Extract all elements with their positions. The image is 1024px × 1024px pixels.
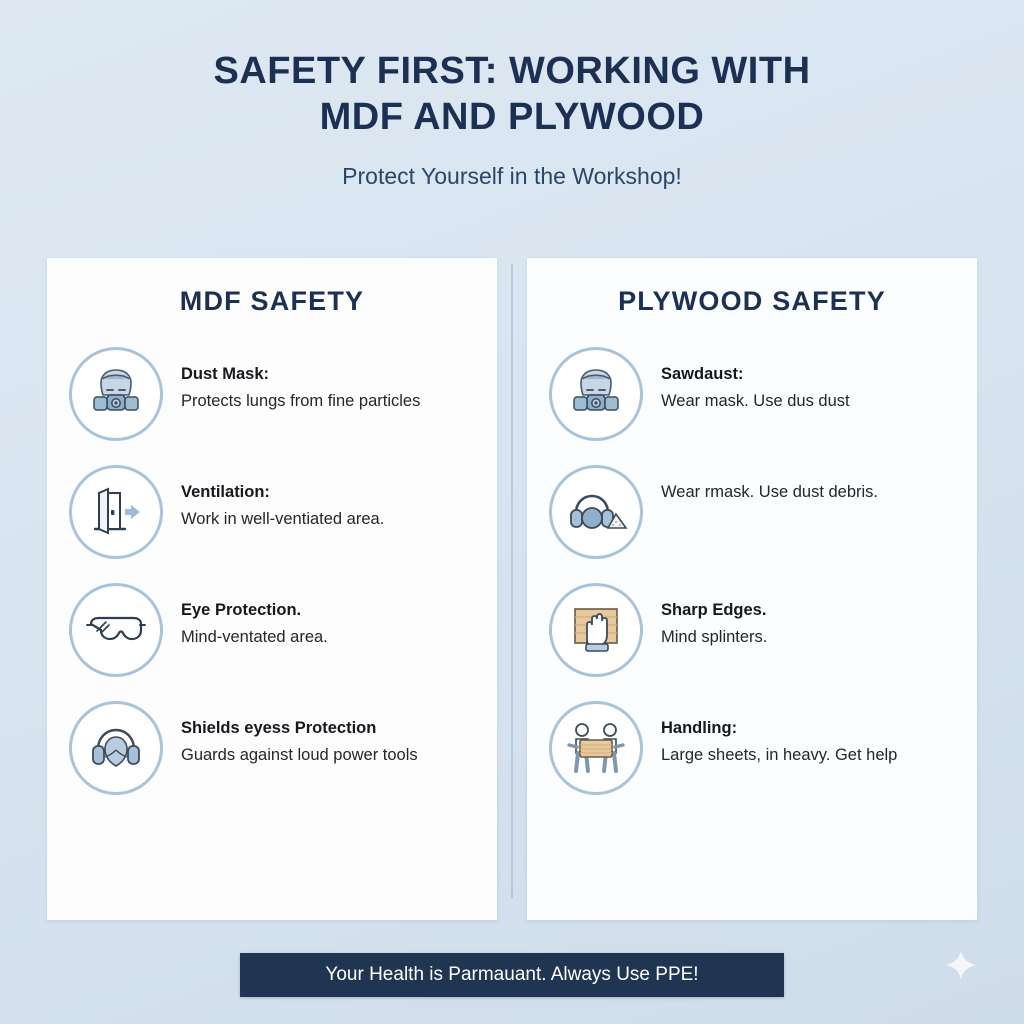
list-item-text: Dust Mask: Protects lungs from fine part… bbox=[163, 347, 420, 414]
list-item-desc: Mind-ventated area. bbox=[181, 624, 328, 651]
respirator-mask-icon bbox=[549, 347, 643, 441]
page-subtitle: Protect Yourself in the Workshop! bbox=[0, 163, 1024, 190]
list-item-title: Sharp Edges. bbox=[661, 597, 767, 624]
list-item-desc: Guards against loud power tools bbox=[181, 742, 418, 769]
mdf-safety-card: MDF SAFETY Dust Mask: Protects lungs fro… bbox=[47, 258, 497, 920]
safety-goggles-icon bbox=[69, 583, 163, 677]
list-item: Dust Mask: Protects lungs from fine part… bbox=[69, 347, 475, 443]
list-item: Sharp Edges. Mind splinters. bbox=[549, 583, 955, 679]
respirator-mask-icon bbox=[69, 347, 163, 441]
ear-protection-head-icon bbox=[69, 701, 163, 795]
list-item-text: Ventilation: Work in well-ventiated area… bbox=[163, 465, 384, 532]
list-item-title: Dust Mask: bbox=[181, 361, 420, 388]
list-item: Handling: Large sheets, in heavy. Get he… bbox=[549, 701, 955, 797]
list-item-text: Sawdaust: Wear mask. Use dus dust bbox=[643, 347, 850, 414]
list-item: Ventilation: Work in well-ventiated area… bbox=[69, 465, 475, 561]
list-item-title: Handling: bbox=[661, 715, 897, 742]
list-item-desc: Wear rmask. Use dust debris. bbox=[661, 479, 878, 506]
mdf-column-heading: MDF SAFETY bbox=[69, 286, 475, 317]
column-divider bbox=[511, 264, 513, 898]
footer-message: Your Health is Parmauant. Always Use PPE… bbox=[325, 964, 698, 986]
list-item-desc: Work in well-ventiated area. bbox=[181, 506, 384, 533]
list-item-desc: Wear mask. Use dus dust bbox=[661, 388, 850, 415]
footer-banner: Your Health is Parmauant. Always Use PPE… bbox=[240, 953, 784, 997]
page-title: Safety First: Working With MDF and Plywo… bbox=[162, 48, 862, 141]
list-item-text: Sharp Edges. Mind splinters. bbox=[643, 583, 767, 650]
plywood-column-heading: PLYWOOD SAFETY bbox=[549, 286, 955, 317]
plywood-safety-card: PLYWOOD SAFETY Sawdaust: Wear mask. Use … bbox=[527, 258, 977, 920]
gloved-hand-board-icon bbox=[549, 583, 643, 677]
list-item-text: Shields eyess Protection Guards against … bbox=[163, 701, 418, 768]
title-line-1: Safety First: Working With bbox=[213, 50, 810, 92]
list-item-desc: Large sheets, in heavy. Get help bbox=[661, 742, 897, 769]
safety-columns: MDF SAFETY Dust Mask: Protects lungs fro… bbox=[47, 258, 977, 920]
list-item: Eye Protection. Mind-ventated area. bbox=[69, 583, 475, 679]
title-line-2: MDF and Plywood bbox=[162, 94, 862, 140]
open-door-airflow-icon bbox=[69, 465, 163, 559]
list-item-title: Eye Protection. bbox=[181, 597, 328, 624]
list-item-desc: Mind splinters. bbox=[661, 624, 767, 651]
list-item-title: Sawdaust: bbox=[661, 361, 850, 388]
list-item-title: Ventilation: bbox=[181, 479, 384, 506]
list-item: Sawdaust: Wear mask. Use dus dust bbox=[549, 347, 955, 443]
list-item-text: Handling: Large sheets, in heavy. Get he… bbox=[643, 701, 897, 768]
infographic-header: Safety First: Working With MDF and Plywo… bbox=[0, 0, 1024, 190]
sparkle-icon bbox=[944, 948, 978, 982]
list-item-text: Wear rmask. Use dust debris. bbox=[643, 465, 878, 506]
list-item: Shields eyess Protection Guards against … bbox=[69, 701, 475, 797]
ear-muffs-sawdust-icon bbox=[549, 465, 643, 559]
list-item-desc: Protects lungs from fine particles bbox=[181, 388, 420, 415]
list-item-title: Shields eyess Protection bbox=[181, 715, 418, 742]
list-item-text: Eye Protection. Mind-ventated area. bbox=[163, 583, 328, 650]
list-item: Wear rmask. Use dust debris. bbox=[549, 465, 955, 561]
two-people-carrying-panel-icon bbox=[549, 701, 643, 795]
